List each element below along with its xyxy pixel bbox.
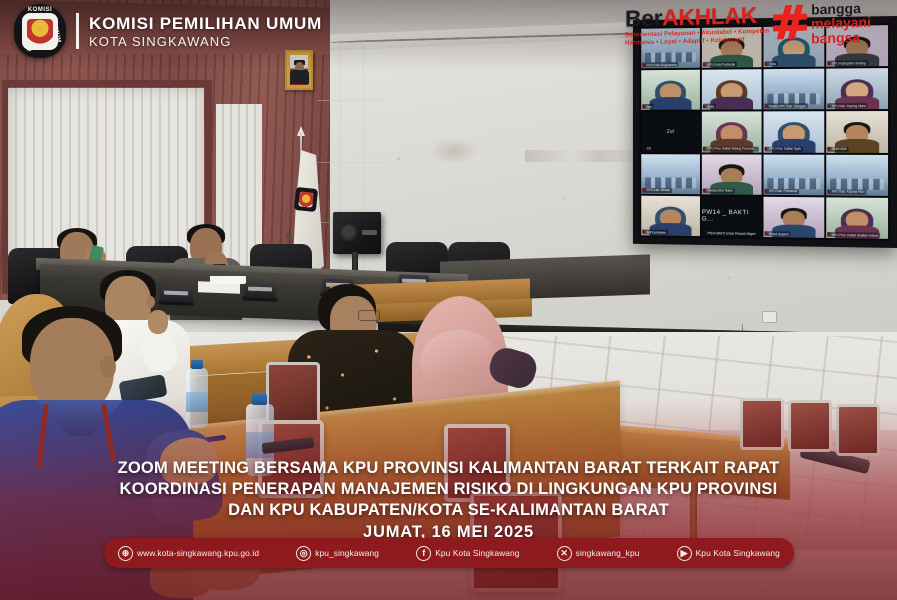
zoom-participant-tile[interactable]: KPU Kab. Pontianak	[763, 154, 824, 195]
zoom-participant-tile[interactable]: Rifani Nurjanti	[763, 197, 824, 238]
eyeglasses	[358, 310, 380, 321]
zoom-tile-name-label: Zul	[642, 146, 653, 151]
zoom-participant-tile[interactable]: KPU Prov. Kalbar Bidang Perencanaan	[702, 112, 762, 152]
zoom-participant-tile[interactable]: ZulZul	[641, 112, 700, 152]
social-link-facebook[interactable]: fKpu Kota Singkawang	[416, 546, 519, 561]
berakhlak-prefix: Ber	[625, 5, 662, 32]
attendee-ear	[100, 356, 116, 378]
zoom-tile-room-occupants	[830, 179, 884, 190]
bottle-cap	[191, 360, 203, 369]
zoom-tile-name-label: Rifani Nurjanti	[764, 231, 790, 236]
header-divider	[76, 13, 79, 49]
social-media-bar: ⊕www.kota-singkawang.kpu.go.id◎kpu_singk…	[104, 538, 794, 568]
zoom-tile-name-label: KPU Prov. Kalbar Syah	[764, 146, 802, 151]
zoom-tile-name-label: Narasumber Rakor	[703, 188, 735, 193]
zoom-participant-tile[interactable]: KPU Prov. Kalbar Analisis Hukum	[826, 197, 888, 239]
zoom-tile-participant-body	[711, 97, 753, 110]
flag-kpu-logo-icon	[294, 187, 318, 212]
x-twitter-icon[interactable]: ✕	[557, 546, 572, 561]
zoom-tile-name-label: Aulia	[703, 104, 716, 109]
social-handle-label: kpu_singkawang	[315, 548, 379, 558]
instagram-icon[interactable]: ◎	[296, 546, 311, 561]
zoom-tile-name-label: KPU Kab. Kapuas Hulu	[827, 189, 866, 194]
zoom-participant-tile[interactable]: Panitia KPU Kab. Sanggau	[763, 69, 824, 110]
zoom-tile-name-label: Mukti Abdi	[827, 146, 848, 151]
caption-block: ZOOM MEETING BERSAMA KPU PROVINSI KALIMA…	[0, 458, 897, 543]
social-link-x-twitter[interactable]: ✕singkawang_kpu	[557, 546, 640, 561]
portrait-suit	[290, 70, 309, 84]
caption-line-2: KOORDINASI PENERAPAN MANAJEMEN RISIKO DI…	[42, 479, 855, 500]
speaker-brand-label	[362, 230, 377, 235]
zoom-tile-name-label: Arif Kurniawan	[642, 229, 668, 234]
screenshot-root: NGKAWANG	[0, 0, 897, 600]
zoom-tile-room-occupants	[767, 93, 821, 104]
berakhlak-wordmark: BerAKHLAK Berorientasi Pelayanan • Akunt…	[625, 4, 769, 48]
zoom-participant-tile[interactable]: KPU Prov. Kalbar Syah	[763, 112, 824, 153]
zoom-tile-name-label: Panitia KPU Kab. Sanggau	[764, 104, 808, 109]
berakhlak-text: BerAKHLAK	[625, 4, 769, 31]
hash-icon	[773, 5, 807, 40]
bangga-melayani-bangsa: bangga melayani bangsa	[811, 1, 871, 45]
social-handle-label: Kpu Kota Singkawang	[435, 548, 519, 558]
bangga-line-3: bangsa	[811, 29, 871, 45]
social-link-youtube[interactable]: ▶Kpu Kota Singkawang	[677, 546, 780, 561]
social-link-website[interactable]: ⊕www.kota-singkawang.kpu.go.id	[118, 546, 259, 561]
youtube-icon[interactable]: ▶	[677, 546, 692, 561]
berakhlak-main: AKHLAK	[662, 2, 757, 31]
zoom-tile-name-label: KPU Kab. Kayong Utara	[827, 104, 868, 109]
zoom-participant-tile[interactable]: Arif Kurniawan	[641, 196, 700, 237]
zoom-tile-name-label: KPU Kab. Melawi	[642, 188, 672, 193]
zoom-tile-name-label: KPU Prov. Kalbar Analisis Hukum	[827, 232, 880, 238]
zoom-participant-tile[interactable]: Mukti Abdi	[826, 111, 888, 152]
attendee-hand	[148, 310, 168, 334]
documents-on-table	[210, 276, 246, 284]
zoom-tile-name-label: KPU Kab. Pontianak	[764, 189, 799, 194]
table-nameplate	[245, 282, 275, 298]
page-subtitle: KOTA SINGKAWANG	[89, 34, 322, 49]
zoom-participant-tile[interactable]: KPU Kab. Kapuas Hulu	[826, 154, 888, 195]
website-icon[interactable]: ⊕	[118, 546, 133, 561]
wall-stain	[430, 138, 478, 164]
social-handle-label: Kpu Kota Singkawang	[696, 548, 780, 558]
header-text: KOMISI PEMILIHAN UMUM KOTA SINGKAWANG	[89, 14, 322, 49]
caption-line-3: DAN KPU KABUPATEN/KOTA SE-KALIMANTAN BAR…	[42, 500, 855, 521]
zoom-participant-tile[interactable]: Ayu	[641, 70, 700, 110]
table-nameplate	[161, 286, 191, 302]
social-handle-label: www.kota-singkawang.kpu.go.id	[137, 548, 259, 558]
berakhlak-banner: BerAKHLAK Berorientasi Pelayanan • Akunt…	[625, 0, 887, 55]
zoom-participant-tile[interactable]: PW14 _ BAKTI G...PW14 BAKTI Untuk Peloso…	[702, 196, 762, 237]
zoom-participant-tile[interactable]: KPU Kab. Melawi	[641, 154, 700, 194]
kpu-logo-icon: KOMISI PEMILIHAN UMUM	[14, 4, 66, 58]
hijab-fold	[420, 330, 498, 392]
caption-line-1: ZOOM MEETING BERSAMA KPU PROVINSI KALIMA…	[42, 458, 855, 479]
attendee-ear	[146, 296, 155, 308]
facebook-icon[interactable]: f	[416, 546, 431, 561]
zoom-participant-tile[interactable]: Aulia	[702, 69, 762, 110]
zoom-tile-name-label: KPU Prov. Kalbar Bidang Perencanaan	[703, 146, 759, 151]
wall-mark	[525, 150, 645, 162]
zoom-participant-tile[interactable]: Narasumber Rakor	[702, 154, 762, 195]
zoom-tile-room-occupants	[767, 178, 821, 189]
zoom-tile-participant-body	[650, 97, 691, 110]
zoom-tile-name-label: Ayu	[642, 104, 654, 109]
speaker-cone	[340, 224, 360, 244]
zoom-tile-name-label: PW14 BAKTI Untuk Pelosok Negeri	[703, 230, 758, 236]
garuda-icon	[27, 19, 53, 45]
social-link-instagram[interactable]: ◎kpu_singkawang	[296, 546, 379, 561]
social-handle-label: singkawang_kpu	[576, 548, 640, 558]
zoom-tile-room-occupants	[645, 178, 697, 189]
zoom-participant-tile[interactable]: KPU Kab. Kayong Utara	[826, 68, 888, 109]
page-title: KOMISI PEMILIHAN UMUM	[89, 14, 322, 34]
